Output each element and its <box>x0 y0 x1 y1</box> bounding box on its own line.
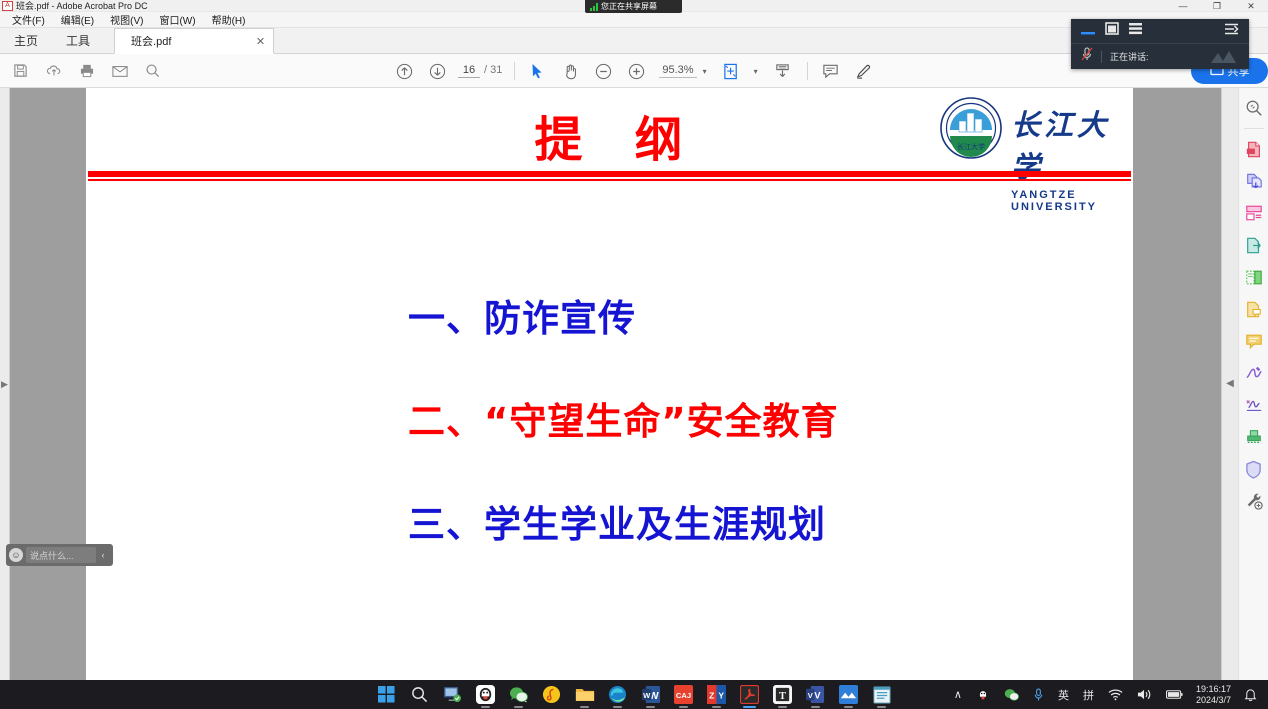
page-navigator[interactable]: 16 / 31 <box>458 64 502 78</box>
create-pdf-icon[interactable] <box>1241 135 1267 163</box>
outline-item-3: 三、学生学业及生涯规划 <box>86 494 1133 597</box>
stamp-icon[interactable] <box>1241 423 1267 451</box>
document-area: ▶ 提 纲 长江大学 长江大学 <box>0 88 1268 680</box>
logo-emblem-icon: 长江大学 <box>939 96 1003 160</box>
taskbar-apps: WW CAJ ZY T VV <box>370 680 898 709</box>
notepad-button[interactable] <box>865 680 898 709</box>
document-tab[interactable]: 班会.pdf ✕ <box>114 28 274 54</box>
visio-button[interactable]: VV <box>799 680 832 709</box>
svg-text:Z: Z <box>709 690 714 700</box>
qq-button[interactable] <box>469 680 502 709</box>
left-panel-rail[interactable]: ▶ <box>0 88 10 680</box>
rail-divider <box>1244 128 1264 129</box>
word-button[interactable]: WW <box>634 680 667 709</box>
outline-list: 一、防诈宣传 二、“守望生命”安全教育 三、学生学业及生涯规划 <box>86 288 1133 597</box>
speaking-status-label: 正在讲话: <box>1110 50 1149 63</box>
tab-home[interactable]: 主页 <box>0 27 52 53</box>
page-right-margin: ◀ <box>1133 88 1238 680</box>
file-explorer-button[interactable] <box>568 680 601 709</box>
menu-help[interactable]: 帮助(H) <box>204 12 254 27</box>
outline-item-2: 二、“守望生命”安全教育 <box>86 391 1133 494</box>
document-tab-label: 班会.pdf <box>131 33 171 49</box>
signal-bars-icon <box>590 3 598 11</box>
mountain-app-button[interactable] <box>832 680 865 709</box>
netease-music-button[interactable] <box>535 680 568 709</box>
taskbar: WW CAJ ZY T VV ∧ <box>0 680 1268 709</box>
page-number-input[interactable]: 16 <box>458 64 480 78</box>
mic-muted-icon[interactable] <box>1081 47 1093 66</box>
emoji-icon[interactable]: ☺ <box>9 548 23 562</box>
organize-pages-icon[interactable] <box>1241 199 1267 227</box>
screen-share-label: 您正在共享屏幕 <box>601 1 657 12</box>
meeting-separator <box>1101 51 1102 63</box>
menu-file[interactable]: 文件(F) <box>4 12 53 27</box>
email-icon[interactable] <box>103 56 136 86</box>
battery-icon[interactable] <box>1159 680 1190 709</box>
page-down-icon[interactable] <box>421 56 454 86</box>
toolbar-separator-2 <box>807 62 808 80</box>
ime-language-indicator[interactable]: 英 <box>1051 680 1076 709</box>
close-icon[interactable]: ✕ <box>256 35 265 48</box>
svg-text:Y: Y <box>718 690 724 700</box>
meeting-panel: 正在讲话: <box>1071 19 1249 69</box>
system-tray: ∧ 英 拼 19:16:17 2024/3/7 <box>947 680 1264 709</box>
screen: A 班会.pdf - Adobe Acrobat Pro DC — ❐ ✕ 文件… <box>0 0 1268 709</box>
save-icon[interactable] <box>4 56 37 86</box>
notification-icon[interactable] <box>1237 680 1264 709</box>
fit-page-icon[interactable] <box>715 56 748 86</box>
tray-overflow-icon[interactable]: ∧ <box>947 680 969 709</box>
sign-icon[interactable] <box>1241 359 1267 387</box>
zoom-value[interactable]: 95.3% <box>659 64 696 78</box>
comment-placeholder: 说点什么... <box>30 549 74 562</box>
taskview-button[interactable] <box>436 680 469 709</box>
close-button[interactable]: ✕ <box>1234 0 1268 12</box>
menu-view[interactable]: 视图(V) <box>102 12 151 27</box>
page-up-icon[interactable] <box>388 56 421 86</box>
zoom-in-icon[interactable] <box>620 56 653 86</box>
zoom-out-icon[interactable] <box>587 56 620 86</box>
fit-page-chevron-icon[interactable]: ▾ <box>754 67 758 76</box>
meeting-panel-status: 正在讲话: <box>1071 44 1249 69</box>
meeting-panel-toolbar <box>1071 19 1249 44</box>
search-icon[interactable] <box>136 56 169 86</box>
tab-tools[interactable]: 工具 <box>52 27 104 53</box>
menu-edit[interactable]: 编辑(E) <box>53 12 102 27</box>
clock-date: 2024/3/7 <box>1196 695 1231 706</box>
toolbar-separator <box>514 62 515 80</box>
collapse-icon[interactable]: ‹ <box>96 550 110 560</box>
tools-rail <box>1238 88 1268 680</box>
send-for-signature-icon[interactable] <box>1241 391 1267 419</box>
enhance-scan-icon[interactable] <box>1241 94 1267 122</box>
more-tools-icon[interactable] <box>1241 487 1267 515</box>
wechat-tray-icon[interactable] <box>997 680 1026 709</box>
search-button[interactable] <box>403 680 436 709</box>
edit-pdf-icon[interactable] <box>1241 263 1267 291</box>
hand-tool-icon[interactable] <box>554 56 587 86</box>
university-logo: 长江大学 长江大学 YANGTZE UNIVERSITY <box>939 96 1129 168</box>
expand-panel-icon[interactable] <box>1225 22 1239 40</box>
highlight-pen-icon[interactable] <box>847 56 880 86</box>
comment-input-bar[interactable]: ☺ 说点什么... ‹ <box>6 544 113 566</box>
window-title: 班会.pdf - Adobe Acrobat Pro DC <box>16 0 148 12</box>
svg-text:CAJ: CAJ <box>676 691 691 700</box>
meeting-minimize-icon[interactable] <box>1081 22 1095 40</box>
svg-text:V: V <box>814 690 821 701</box>
caj-viewer-button[interactable]: CAJ <box>667 680 700 709</box>
zy-button[interactable]: ZY <box>700 680 733 709</box>
clock-time: 19:16:17 <box>1196 684 1231 695</box>
qq-tray-icon[interactable] <box>969 680 997 709</box>
volume-icon[interactable] <box>1130 680 1159 709</box>
expand-left-panel-icon[interactable]: ▶ <box>0 378 9 390</box>
print-icon[interactable] <box>70 56 103 86</box>
start-button[interactable] <box>370 680 403 709</box>
text-app-button[interactable]: T <box>766 680 799 709</box>
svg-text:长江大学: 长江大学 <box>957 142 985 151</box>
protect-icon[interactable] <box>1241 455 1267 483</box>
logo-english-name: YANGTZE UNIVERSITY <box>1011 189 1129 213</box>
fill-sign-icon[interactable] <box>1241 295 1267 323</box>
svg-text:T: T <box>779 691 786 702</box>
acrobat-button[interactable] <box>733 680 766 709</box>
restore-button[interactable]: ❐ <box>1200 0 1234 12</box>
minimize-button[interactable]: — <box>1166 0 1200 12</box>
comment-tool-icon[interactable] <box>1241 327 1267 355</box>
screen-share-indicator[interactable]: 您正在共享屏幕 <box>585 0 682 13</box>
wechat-button[interactable] <box>502 680 535 709</box>
mic-tray-icon[interactable] <box>1026 680 1051 709</box>
list-icon[interactable] <box>1129 22 1142 40</box>
page-total-label: / 31 <box>484 64 502 76</box>
clock[interactable]: 19:16:17 2024/3/7 <box>1190 684 1237 706</box>
export-pdf-icon[interactable] <box>1241 231 1267 259</box>
menu-window[interactable]: 窗口(W) <box>151 12 203 27</box>
acrobat-icon: A <box>2 1 13 11</box>
combine-files-icon[interactable] <box>1241 167 1267 195</box>
comment-input[interactable]: 说点什么... <box>26 547 96 563</box>
outline-item-1: 一、防诈宣传 <box>86 288 1133 391</box>
meeting-brand-icon <box>1209 47 1243 67</box>
window-controls: — ❐ ✕ <box>1166 0 1268 12</box>
scroll-mode-icon[interactable] <box>766 56 799 86</box>
edge-button[interactable] <box>601 680 634 709</box>
collapse-right-panel-icon[interactable]: ◀ <box>1225 375 1235 391</box>
svg-text:W: W <box>643 691 651 700</box>
comment-icon[interactable] <box>814 56 847 86</box>
upload-cloud-icon[interactable] <box>37 56 70 86</box>
zoom-control[interactable]: 95.3% ▾ <box>659 64 706 78</box>
pdf-page: 提 纲 长江大学 长江大学 YANGTZE UNIVERSITY <box>86 88 1133 680</box>
select-cursor-icon[interactable] <box>521 56 554 86</box>
header-rule-thick <box>88 171 1131 177</box>
wifi-icon[interactable] <box>1101 680 1130 709</box>
ime-mode-indicator[interactable]: 拼 <box>1076 680 1101 709</box>
chevron-down-icon[interactable]: ▾ <box>703 67 707 76</box>
window-icon[interactable] <box>1105 22 1119 40</box>
header-rule-thin <box>88 179 1131 181</box>
